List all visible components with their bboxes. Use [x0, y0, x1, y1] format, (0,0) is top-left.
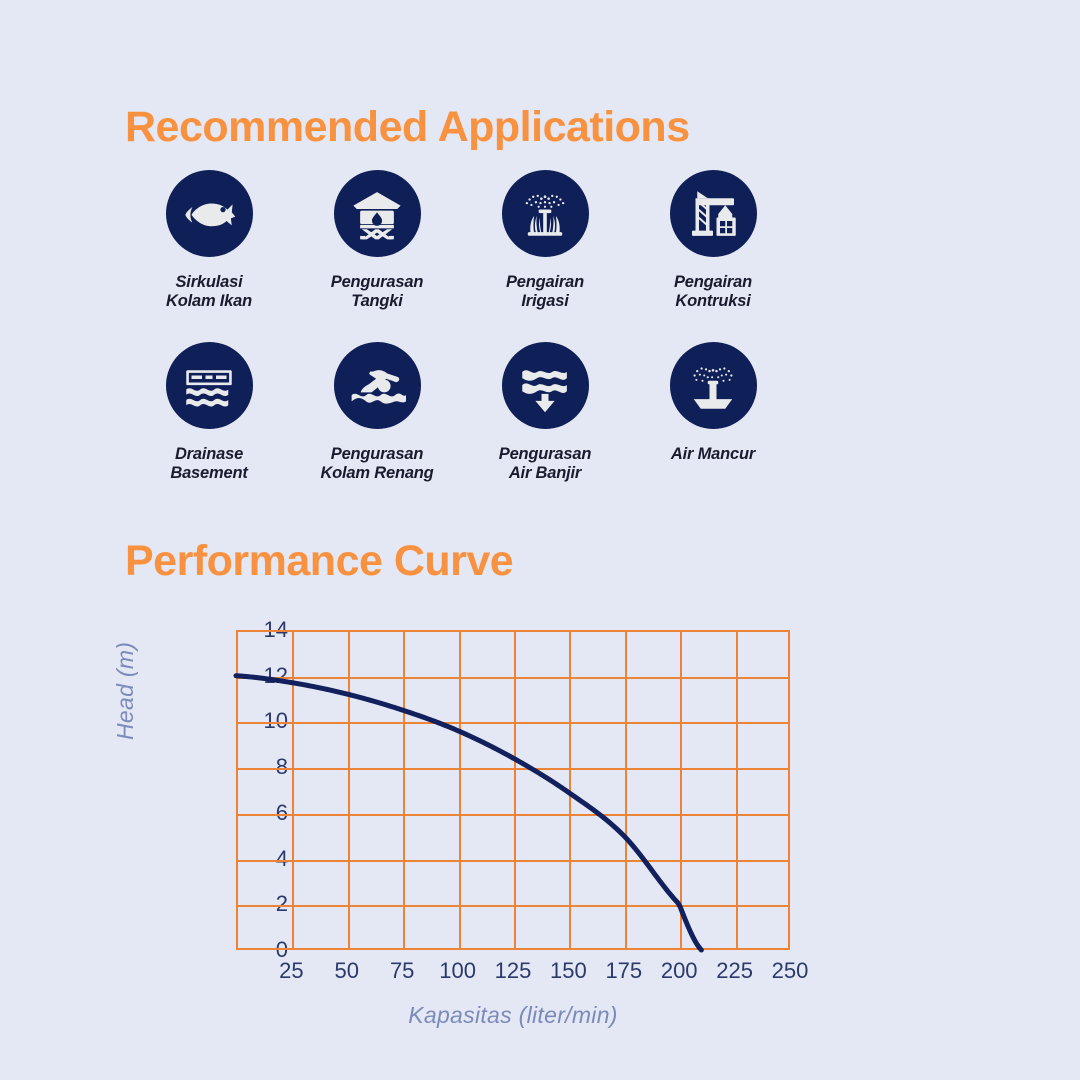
chart-curve [236, 630, 790, 950]
application-label: Pengairan Irigasi [506, 273, 584, 312]
x-tick-label: 250 [750, 958, 830, 984]
application-item-fountain[interactable]: Air Mancur [629, 342, 797, 514]
application-item-sprinkler[interactable]: Pengairan Irigasi [461, 170, 629, 342]
applications-grid: Sirkulasi Kolam Ikan P [125, 170, 775, 514]
infographic-page: Recommended Applications Sirkulasi Kolam… [0, 0, 1080, 1080]
application-item-swimmer[interactable]: Pengurasan Kolam Renang [293, 342, 461, 514]
application-label: Pengurasan Kolam Renang [320, 445, 433, 484]
application-item-crane[interactable]: Pengairan Kontruksi [629, 170, 797, 342]
performance-chart: Head (m) 02468101214 2550751001251501752… [0, 600, 1080, 1060]
application-item-flood[interactable]: Pengurasan Air Banjir [461, 342, 629, 514]
application-label: Pengurasan Air Banjir [499, 445, 591, 484]
performance-section-title: Performance Curve [125, 537, 513, 586]
fish-icon [166, 170, 253, 257]
crane-icon [670, 170, 757, 257]
application-item-drainage[interactable]: Drainase Basement [125, 342, 293, 514]
application-label: Drainase Basement [170, 445, 247, 484]
water-tank-icon [334, 170, 421, 257]
chart-y-axis-label: Head (m) [112, 642, 139, 740]
application-label: Air Mancur [671, 445, 755, 464]
chart-x-axis-label: Kapasitas (liter/min) [236, 1002, 790, 1029]
applications-section-title: Recommended Applications [125, 103, 690, 152]
flood-water-icon [502, 342, 589, 429]
sprinkler-icon [502, 170, 589, 257]
application-label: Sirkulasi Kolam Ikan [166, 273, 252, 312]
application-label: Pengurasan Tangki [331, 273, 423, 312]
swimmer-icon [334, 342, 421, 429]
application-item-fish[interactable]: Sirkulasi Kolam Ikan [125, 170, 293, 342]
drainage-icon [166, 342, 253, 429]
application-label: Pengairan Kontruksi [674, 273, 752, 312]
fountain-icon [670, 342, 757, 429]
application-item-water-tank[interactable]: Pengurasan Tangki [293, 170, 461, 342]
